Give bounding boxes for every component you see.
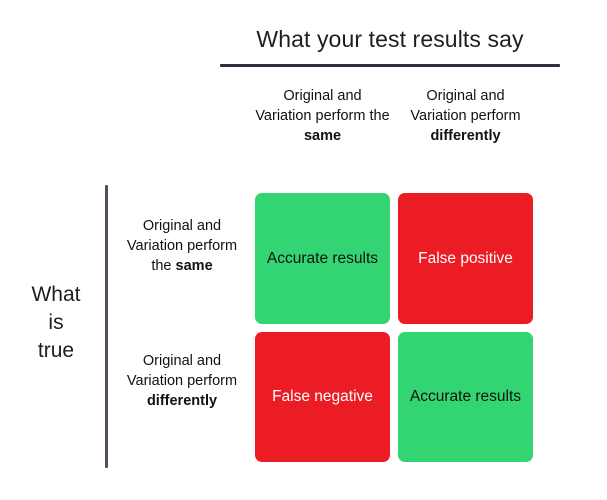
row-header-differently-lead: Original and Variation perform: [127, 353, 237, 389]
row-header-same: Original and Variation perform the same: [118, 216, 246, 276]
column-header-same-emphasis: same: [304, 128, 341, 144]
column-header-differently-lead: Original and Variation perform: [410, 88, 520, 124]
matrix-cell-label: Accurate results: [410, 386, 521, 407]
row-header-same-emphasis: same: [176, 258, 213, 274]
confusion-matrix-diagram: What your test results say Original and …: [0, 0, 607, 500]
column-axis-divider: [220, 64, 560, 67]
column-header-differently-emphasis: differently: [430, 128, 500, 144]
matrix-cell-accurate-results-top-left: Accurate results: [255, 193, 390, 324]
column-header-same-lead: Original and Variation perform the: [255, 88, 389, 124]
column-header-row: Original and Variation perform the same …: [255, 86, 533, 146]
matrix-cell-false-positive: False positive: [398, 193, 533, 324]
matrix-grid: Accurate results False positive False ne…: [255, 193, 533, 462]
matrix-cell-accurate-results-bottom-right: Accurate results: [398, 332, 533, 463]
column-header-differently: Original and Variation perform different…: [398, 86, 533, 146]
row-header-differently-emphasis: differently: [147, 393, 217, 409]
matrix-cell-label: False positive: [418, 248, 513, 269]
column-axis-title: What your test results say: [220, 24, 560, 54]
row-axis-title: What is true: [14, 281, 98, 365]
row-axis-divider: [105, 185, 108, 468]
row-axis-title-line-3: true: [14, 337, 98, 365]
column-header-same: Original and Variation perform the same: [255, 86, 390, 146]
matrix-cell-false-negative: False negative: [255, 332, 390, 463]
matrix-cell-label: False negative: [272, 386, 373, 407]
row-header-differently: Original and Variation perform different…: [118, 351, 246, 411]
row-axis-title-line-2: is: [14, 309, 98, 337]
matrix-cell-label: Accurate results: [267, 248, 378, 269]
row-axis-title-line-1: What: [14, 281, 98, 309]
